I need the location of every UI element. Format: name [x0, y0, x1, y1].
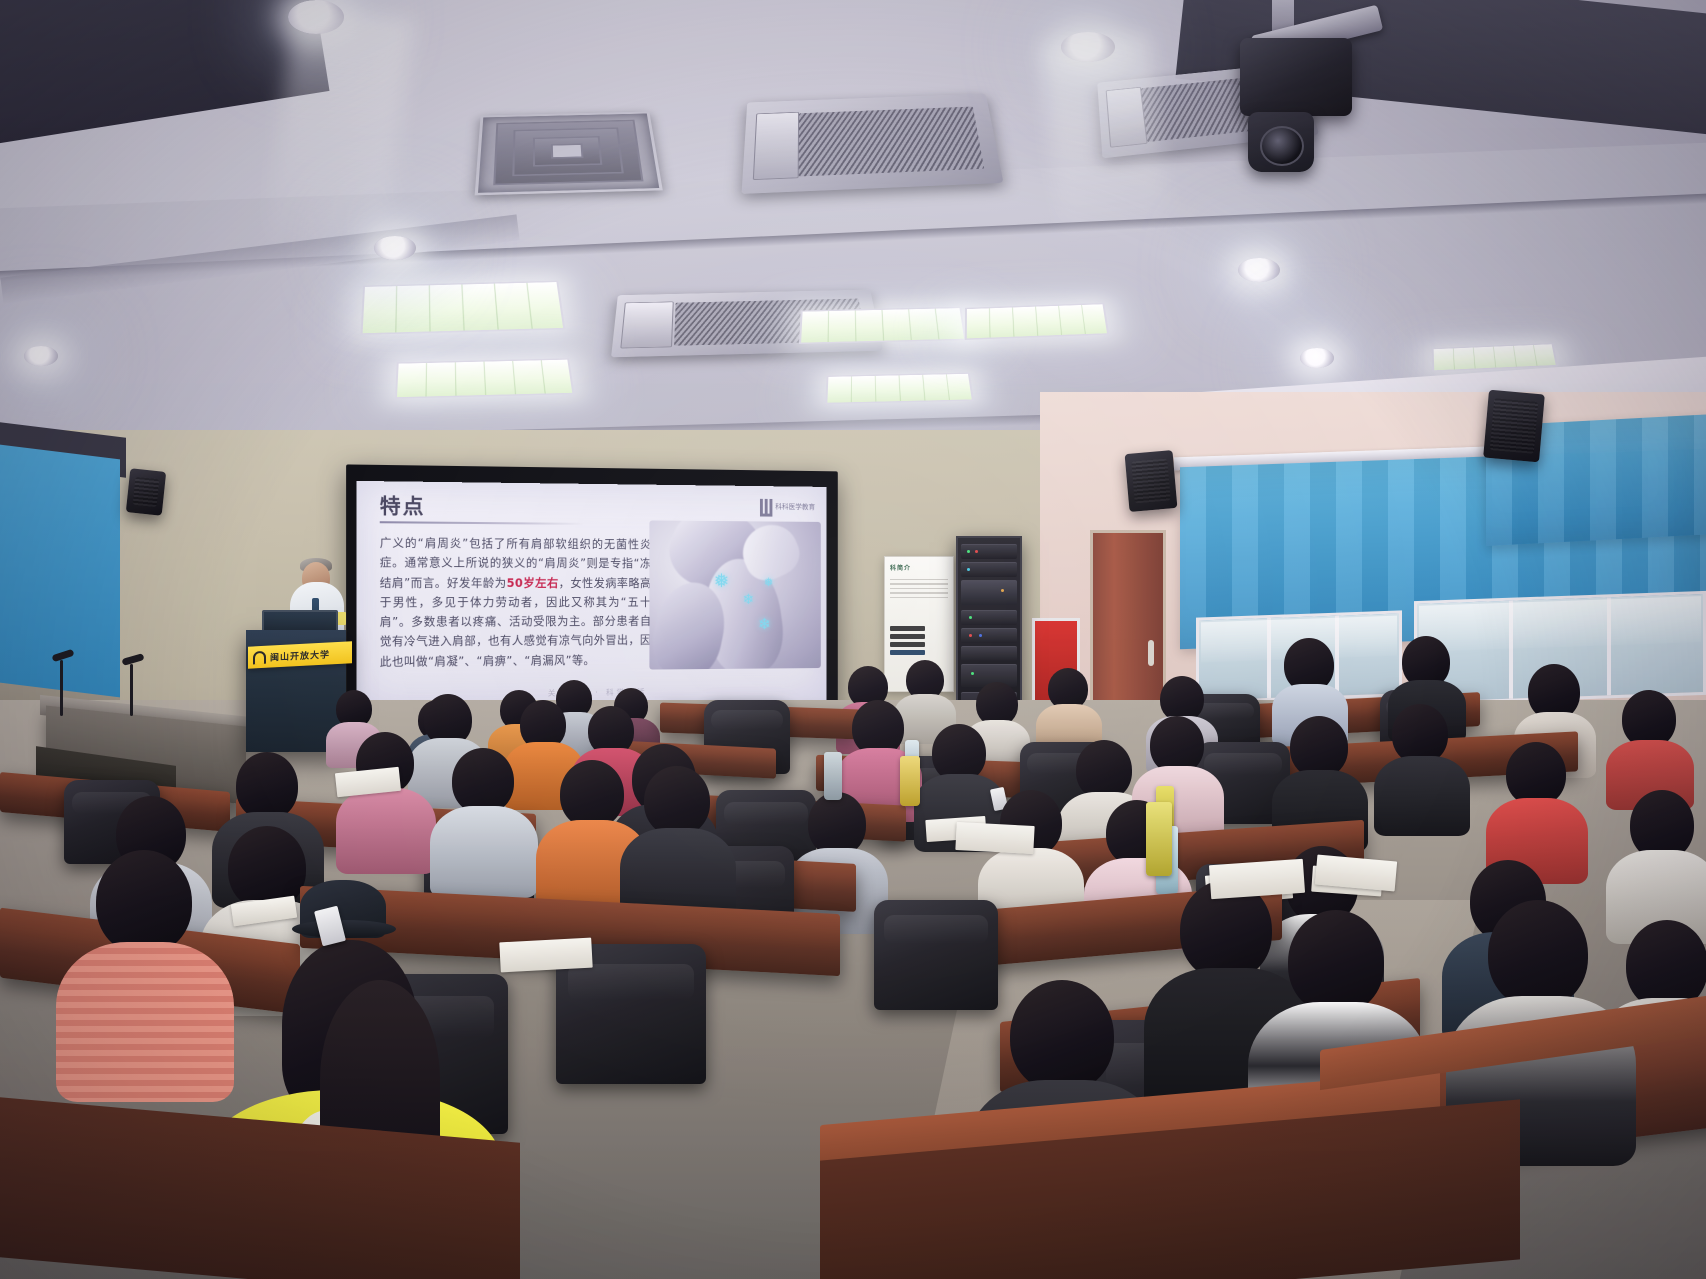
slide-logo: 科科医学教育 — [760, 498, 815, 518]
slide-logo-text: 科科医学教育 — [775, 504, 815, 512]
university-logo-icon — [253, 650, 266, 664]
snowflake-icon-2: ❄ — [743, 592, 754, 606]
handout-paper — [499, 938, 592, 973]
ceiling-ptz-camera — [1240, 38, 1352, 116]
panel-light-3 — [799, 307, 966, 344]
slide-text-part-2: ，女性发病率略高于男性，多见于体力劳动者，因此又称其为“五十肩”。多数患者以疼痛… — [380, 576, 652, 668]
drink-bottle — [1146, 802, 1172, 876]
handout-paper — [955, 822, 1034, 854]
panel-light-4 — [825, 373, 974, 405]
drink-cup — [900, 756, 920, 806]
downlight-6 — [1300, 348, 1334, 368]
panel-light-5 — [965, 303, 1109, 340]
poster-chip — [890, 634, 925, 639]
downlight-4 — [1238, 258, 1280, 282]
photo-canvas: 科科医学教育 特点 广义的“肩周炎”包括了所有肩部软组织的无菌性炎症。通常意义上… — [0, 0, 1706, 1279]
door-handle-icon[interactable] — [1148, 640, 1154, 666]
poster-line — [890, 592, 948, 593]
slide-logo-mark — [760, 499, 772, 517]
panel-light-1 — [360, 281, 565, 335]
downlight-5 — [24, 346, 58, 366]
wall-speaker-right — [1125, 450, 1178, 512]
panel-light-2 — [395, 358, 575, 398]
snowflake-icon-3: ❅ — [764, 576, 774, 588]
poster-title: 科简介 — [890, 563, 948, 572]
slide-body-text: 广义的“肩周炎”包括了所有肩部软组织的无菌性炎症。通常意义上所说的狭义的“肩周炎… — [380, 533, 652, 671]
slide-illustration: ❅ ❄ ❅ ❄ — [649, 520, 820, 669]
chair — [874, 900, 998, 1010]
handout-paper — [1209, 859, 1305, 899]
projection-screen: 科科医学教育 特点 广义的“肩周炎”包括了所有肩部软组织的无菌性炎症。通常意义上… — [357, 481, 827, 707]
microphone-stand-2 — [130, 664, 133, 716]
slide-text-highlight: 50岁左右 — [507, 576, 559, 589]
thermos-bottle — [824, 752, 842, 800]
poster-chip — [890, 626, 925, 631]
wall-speaker-left — [126, 468, 166, 516]
presentation-slide: 科科医学教育 特点 广义的“肩周炎”包括了所有肩部软组织的无菌性炎症。通常意义上… — [357, 481, 827, 707]
poster-line — [890, 583, 948, 584]
poster-line — [890, 588, 948, 589]
camera-lens-icon — [1248, 112, 1314, 172]
wall-speaker-far-right — [1483, 390, 1545, 463]
ac-cassette-unit-1 — [742, 93, 1004, 194]
snowflake-icon-4: ❄ — [758, 618, 771, 634]
poster-chip — [890, 650, 925, 655]
slide-title-underline — [380, 521, 584, 525]
ac-diffuser-square — [475, 112, 663, 196]
light-beam-2 — [1040, 33, 1170, 243]
microphone-stand-1 — [60, 660, 63, 716]
podium-banner-text: 闽山开放大学 — [270, 647, 330, 663]
poster-chip — [890, 642, 925, 647]
poster-line — [890, 579, 948, 580]
poster-line — [890, 597, 948, 598]
slide-title: 特点 — [380, 496, 812, 520]
snowflake-icon-1: ❅ — [714, 572, 729, 591]
